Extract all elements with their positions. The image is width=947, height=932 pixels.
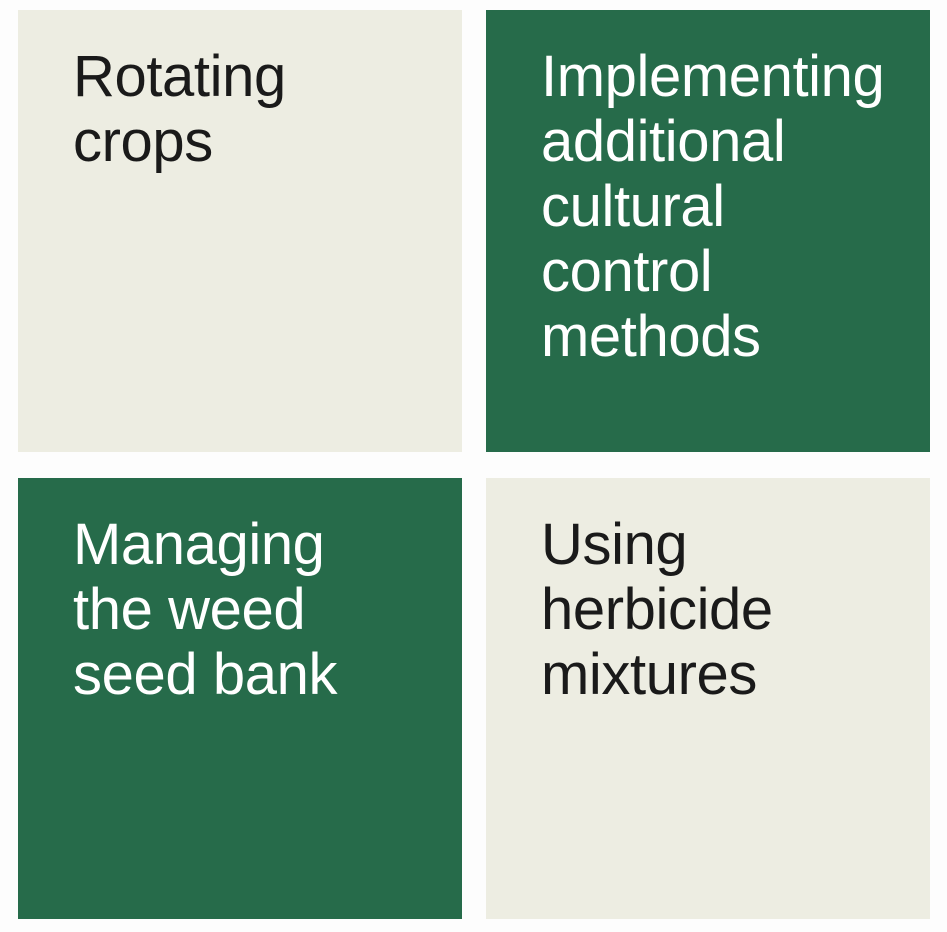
tile-using-herbicide-mixtures[interactable]: Using herbicide mixtures (486, 478, 930, 919)
tile-label: Implementing additional cultural control… (541, 44, 906, 369)
tile-label: Rotating crops (73, 44, 438, 174)
tile-rotating-crops[interactable]: Rotating crops (18, 10, 462, 452)
tile-additional-cultural-control-methods[interactable]: Implementing additional cultural control… (486, 10, 930, 452)
tile-label: Using herbicide mixtures (541, 512, 906, 707)
tile-label: Managing the weed seed bank (73, 512, 438, 707)
tile-grid: Rotating crops Implementing additional c… (0, 0, 947, 932)
tile-managing-weed-seed-bank[interactable]: Managing the weed seed bank (18, 478, 462, 919)
